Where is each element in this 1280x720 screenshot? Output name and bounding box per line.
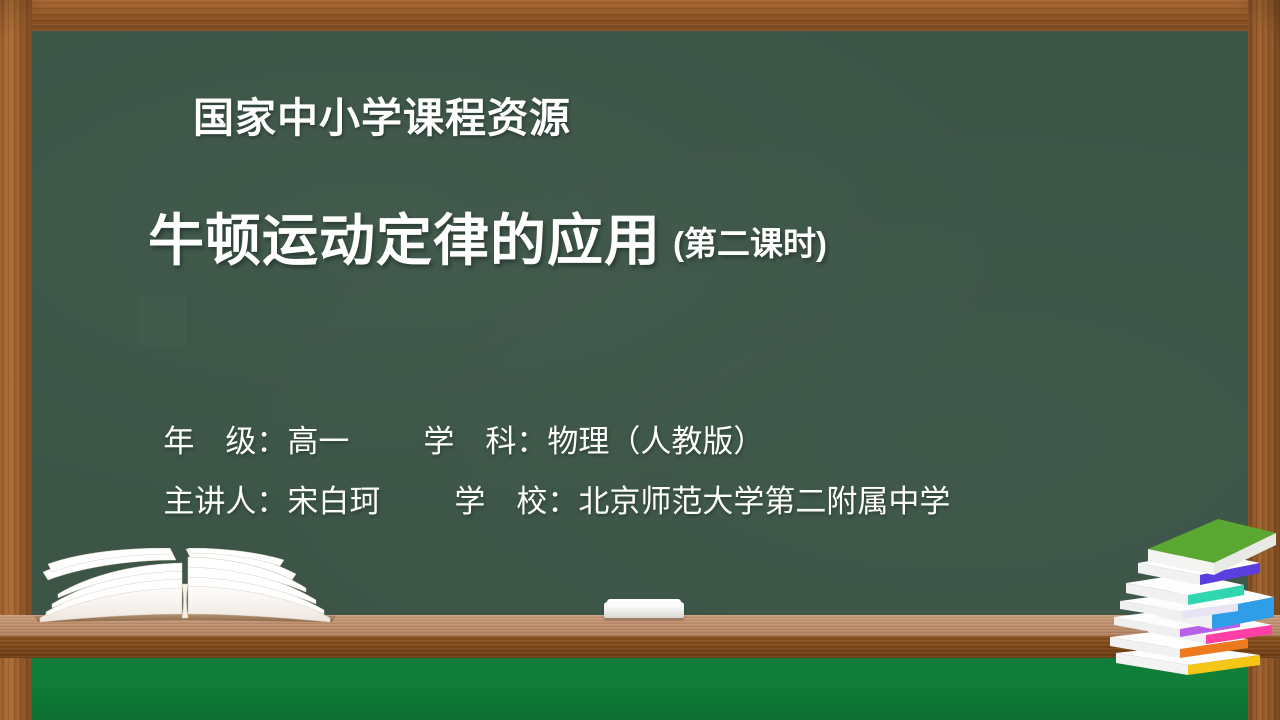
- page-title: 牛顿运动定律的应用(第二课时): [148, 196, 827, 277]
- info-school-value: 北京师范大学第二附属中学: [578, 484, 950, 520]
- book-stack-icon: [1092, 505, 1280, 680]
- eraser-icon: [604, 598, 684, 618]
- open-book-icon: [10, 548, 360, 626]
- frame-corner-top-left: [0, 0, 46, 46]
- chalk-smudge: [140, 295, 186, 347]
- chalk-ledge-front: [0, 636, 1280, 658]
- page-header: 国家中小学课程资源: [193, 84, 571, 144]
- info-row-teacher: 主讲人：宋白珂学 校：北京师范大学第二附属中学: [124, 440, 950, 557]
- eraser-felt-top: [607, 599, 681, 607]
- page-title-sub: (第二课时): [673, 225, 827, 262]
- page-title-main: 牛顿运动定律的应用: [148, 209, 661, 272]
- info-presenter-label: 主讲人：: [163, 484, 287, 520]
- frame-corner-top-right: [1234, 0, 1280, 46]
- slide-stage: 国家中小学课程资源 牛顿运动定律的应用(第二课时) 年 级：高一学 科：物理（人…: [0, 0, 1280, 720]
- bottom-green-base: [0, 650, 1280, 720]
- info-presenter-value: 宋白珂: [287, 484, 380, 520]
- info-school-label: 学 校：: [454, 484, 578, 520]
- frame-top-rail: [0, 0, 1280, 31]
